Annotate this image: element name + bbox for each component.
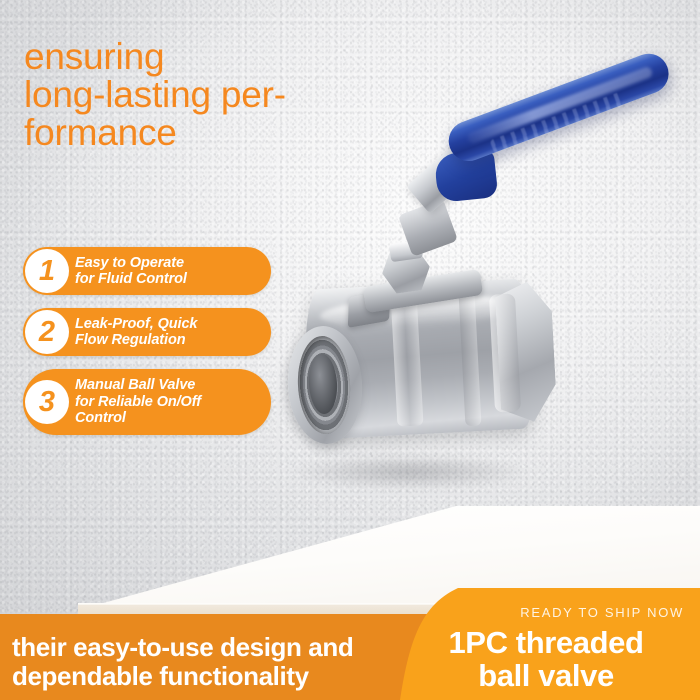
product-name-line-1: 1PC threaded: [406, 626, 686, 659]
status-badge: READY TO SHIP NOW: [520, 605, 684, 620]
feature-2-line-1: Leak-Proof, Quick: [75, 316, 197, 333]
feature-badge-2: 2: [25, 310, 69, 354]
feature-item-1[interactable]: 1 Easy to Operate for Fluid Control: [23, 247, 271, 295]
product-banner: ensuring long-lasting per- formance 1 Ea…: [0, 0, 700, 700]
feature-label-1: Easy to Operate for Fluid Control: [75, 255, 209, 288]
footer-tagline-line-1: their easy-to-use design and: [12, 633, 424, 662]
feature-3-line-2: for Reliable On/Off: [75, 394, 201, 411]
feature-1-line-1: Easy to Operate: [75, 255, 187, 272]
feature-3-line-1: Manual Ball Valve: [75, 377, 201, 394]
feature-1-line-2: for Fluid Control: [75, 271, 187, 288]
feature-item-3[interactable]: 3 Manual Ball Valve for Reliable On/Off …: [23, 369, 271, 435]
feature-label-3: Manual Ball Valve for Reliable On/Off Co…: [75, 377, 223, 427]
feature-3-line-3: Control: [75, 410, 201, 427]
feature-list: 1 Easy to Operate for Fluid Control 2 Le…: [23, 247, 271, 448]
headline-line-2: long-lasting per-: [24, 76, 454, 114]
product-name: 1PC threaded ball valve: [406, 626, 686, 692]
feature-label-2: Leak-Proof, Quick Flow Regulation: [75, 316, 219, 349]
footer-tagline-line-2: dependable functionality: [12, 662, 424, 691]
feature-badge-3: 3: [25, 380, 69, 424]
footer-tagline: their easy-to-use design and dependable …: [12, 633, 424, 691]
feature-item-2[interactable]: 2 Leak-Proof, Quick Flow Regulation: [23, 308, 271, 356]
headline-line-1: ensuring: [24, 38, 454, 76]
feature-badge-1: 1: [25, 249, 69, 293]
feature-2-line-2: Flow Regulation: [75, 332, 197, 349]
page-title: ensuring long-lasting per- formance: [24, 38, 454, 152]
headline-line-3: formance: [24, 114, 454, 152]
product-name-line-2: ball valve: [406, 659, 686, 692]
